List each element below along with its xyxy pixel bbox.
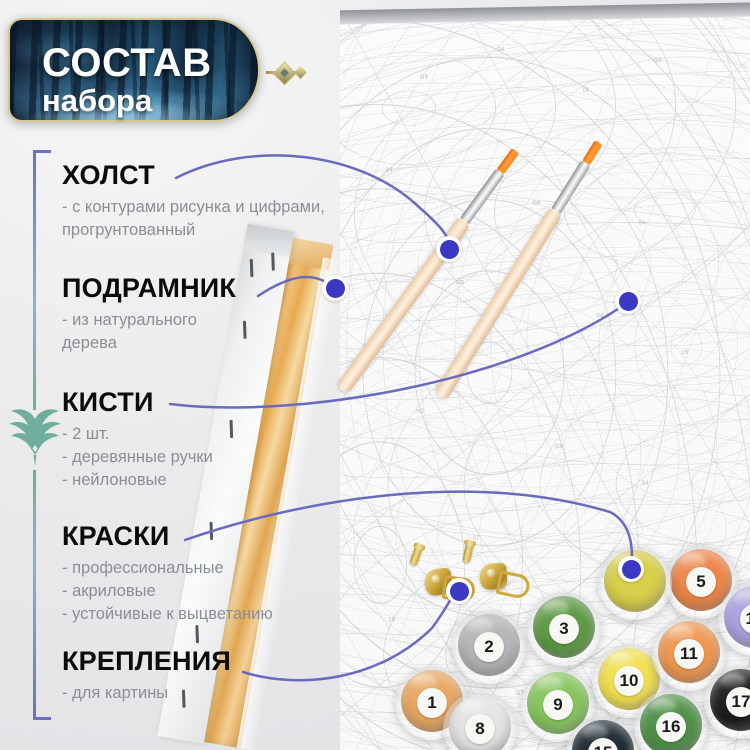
paint-pot-3: 3 [527, 592, 601, 666]
feature-kisti: КИСТИ - 2 шт. - деревянные ручки - нейло… [62, 389, 213, 491]
bracket-line-bottom [33, 470, 36, 720]
feature-bullets: - с контурами рисунка и цифрами, прогрун… [62, 196, 325, 242]
bullet: - акриловые [62, 580, 273, 603]
pot-number-10: 10 [614, 666, 644, 696]
d-ring-hanger-icon [479, 562, 521, 595]
bullet: - нейлоновые [62, 469, 213, 492]
bullet: - для картины [62, 682, 231, 705]
pot-number-16: 16 [656, 712, 686, 742]
pot-number-9: 9 [543, 690, 573, 720]
bullet: - устойчивые к выцветанию [62, 603, 273, 626]
feature-title: КИСТИ [62, 389, 213, 416]
pot-number-2: 2 [474, 632, 504, 662]
pot-number-5: 5 [686, 567, 716, 597]
bullet: - деревянные ручки [62, 446, 213, 469]
bracket-line-top [33, 150, 36, 410]
feature-title: КРЕПЛЕНИЯ [62, 648, 231, 675]
feature-bullets: - для картины [62, 682, 231, 705]
winged-ornament-icon [7, 405, 63, 467]
paint-pot-2: 2 [452, 610, 526, 684]
bullet: - из натурального [62, 309, 236, 332]
banner-finial-ornament [266, 62, 310, 84]
feature-kraski: КРАСКИ - профессиональные - акриловые - … [62, 523, 273, 625]
infographic-root: G9 04 19 G9 14 G9 54 G9 04 19 H2 G9 54 0… [0, 0, 750, 750]
feature-title: ПОДРАМНИК [62, 275, 236, 302]
bullet: - 2 шт. [62, 423, 213, 446]
feature-bullets: - 2 шт. - деревянные ручки - нейлоновые [62, 423, 213, 491]
feature-title: ХОЛСТ [62, 162, 325, 189]
bullet: - профессиональные [62, 557, 273, 580]
feature-kholst: ХОЛСТ - с контурами рисунка и цифрами, п… [62, 162, 325, 242]
callout-dot-kisti[interactable] [615, 288, 641, 314]
bracket-arm-top [33, 150, 51, 153]
pot-number-11: 11 [674, 639, 704, 669]
banner-title: СОСТАВ набора [42, 44, 212, 116]
banner-line-1: СОСТАВ [42, 44, 212, 83]
header-banner: СОСТАВ набора [8, 18, 260, 122]
callout-dot-krepleniya[interactable] [446, 578, 472, 604]
callout-dot-podramnik[interactable] [322, 275, 348, 301]
feature-title: КРАСКИ [62, 523, 273, 550]
callout-dot-kholst[interactable] [436, 236, 462, 262]
pot-number-17: 17 [726, 687, 750, 717]
feature-bullets: - профессиональные - акриловые - устойчи… [62, 557, 273, 625]
feature-krepleniya: КРЕПЛЕНИЯ - для картины [62, 648, 231, 705]
bullet: прогрунтованный [62, 219, 325, 242]
bracket-arm-bottom [33, 717, 51, 720]
callout-dot-kraski[interactable] [618, 556, 644, 582]
pot-number-8: 8 [465, 714, 495, 744]
banner-line-2: набора [42, 85, 212, 116]
feature-podramnik: ПОДРАМНИК - из натурального дерева [62, 275, 236, 355]
pot-number-3: 3 [549, 614, 579, 644]
bullet: дерева [62, 332, 236, 355]
feature-bullets: - из натурального дерева [62, 309, 236, 355]
bullet: - с контурами рисунка и цифрами, [62, 196, 325, 219]
pot-number-1: 1 [417, 688, 447, 718]
